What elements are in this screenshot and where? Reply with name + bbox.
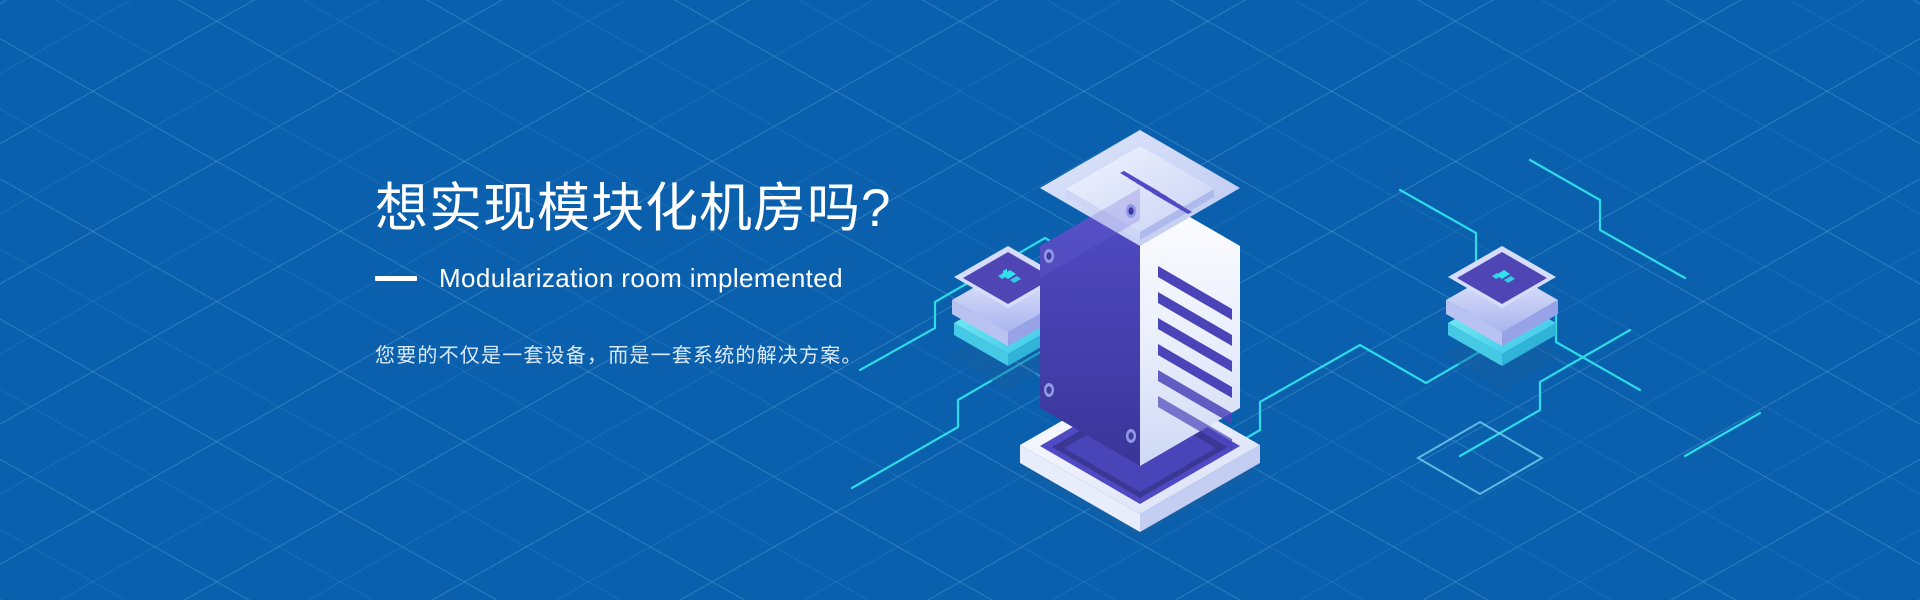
accent-divider-icon: [375, 276, 417, 281]
server-tower-icon: [1020, 130, 1260, 532]
isometric-server-illustration: [840, 70, 1790, 540]
page-subtitle: Modularization room implemented: [439, 263, 843, 294]
hero-banner: 想实现模块化机房吗? Modularization room implement…: [0, 0, 1920, 600]
